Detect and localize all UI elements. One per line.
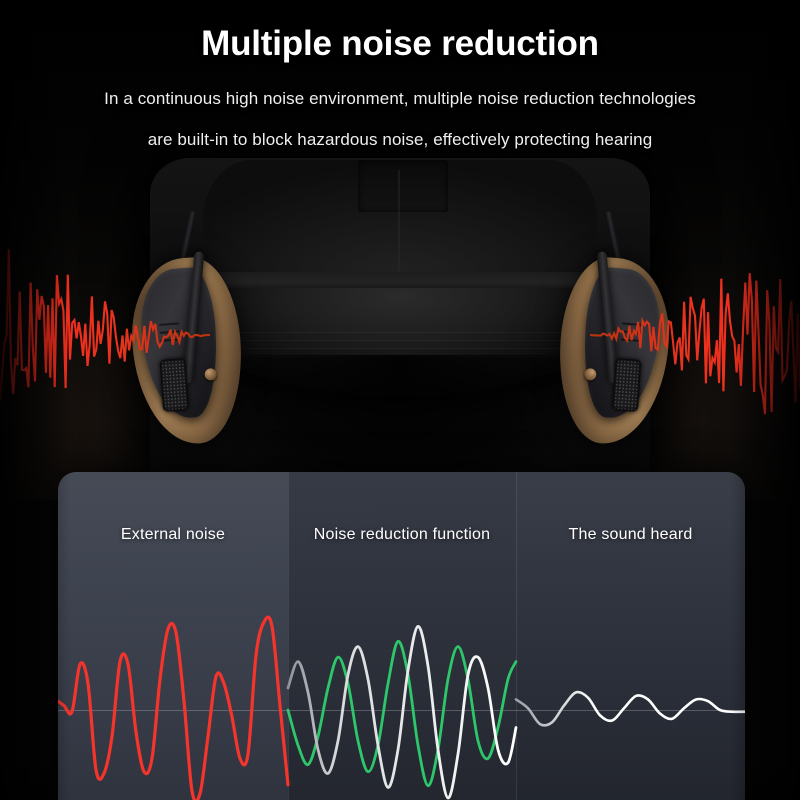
wave-external-noise [58, 617, 288, 800]
page-title: Multiple noise reduction [0, 24, 800, 64]
waveform-chart [58, 472, 745, 800]
brim-stitch [183, 348, 617, 349]
spike-waveform-left-svg [0, 215, 210, 455]
comparison-card: External noise Noise reduction function … [58, 472, 745, 800]
incoming-noise-waveform-left [0, 215, 210, 455]
spike-waveform-right-svg [590, 215, 800, 455]
panel-label-noise-reduction: Noise reduction function [288, 526, 516, 544]
incoming-noise-waveform-right [590, 215, 800, 455]
wave-residual-sound [516, 692, 745, 725]
panel-label-external-noise: External noise [58, 526, 288, 544]
subtitle-line-2: are built-in to block hazardous noise, e… [0, 130, 800, 150]
header: Multiple noise reduction In a continuous… [0, 0, 800, 175]
cap-seam [398, 170, 400, 275]
brim-stitch [183, 340, 617, 341]
product-infographic: Multiple noise reduction In a continuous… [0, 0, 800, 800]
subtitle-line-1: In a continuous high noise environment, … [0, 89, 800, 109]
spike-path [0, 249, 210, 400]
panel-label-sound-heard: The sound heard [516, 526, 745, 544]
brim-stitch [183, 332, 617, 333]
